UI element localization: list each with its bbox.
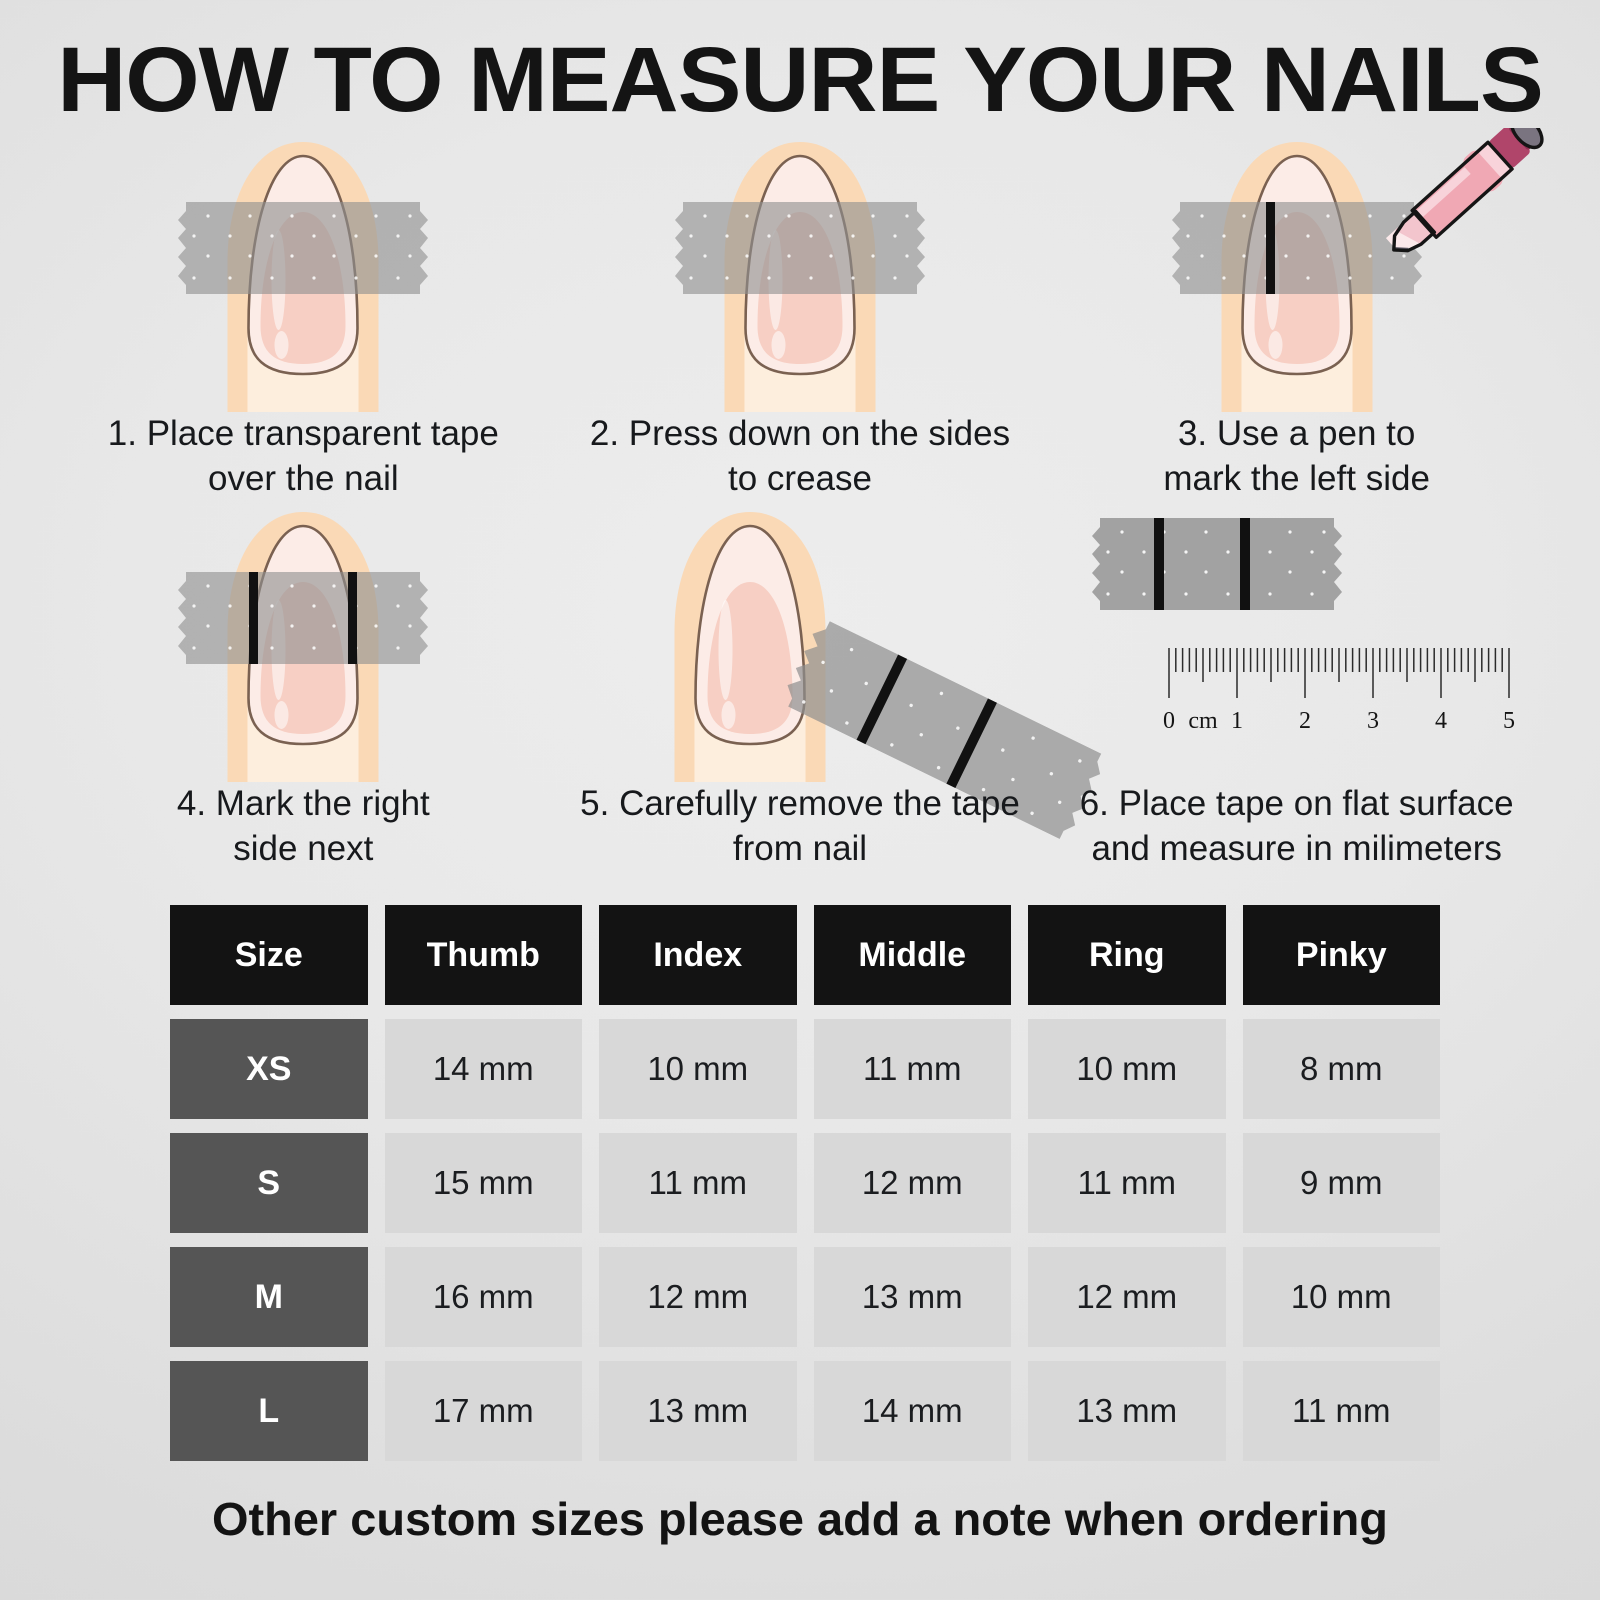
table-cell-value: 14 mm bbox=[385, 1019, 583, 1119]
step-4-caption: 4. Mark the rightside next bbox=[55, 782, 552, 872]
ruler-unit-label: cm bbox=[1188, 708, 1218, 734]
finger-illustration bbox=[663, 500, 838, 782]
table-cell-value: 11 mm bbox=[1243, 1361, 1441, 1461]
table-cell-value: 14 mm bbox=[814, 1361, 1012, 1461]
finger-illustration bbox=[216, 500, 391, 782]
step-5-illustration bbox=[552, 500, 1049, 782]
step-2-caption: 2. Press down on the sidesto crease bbox=[552, 412, 1049, 502]
footer-note: Other custom sizes please add a note whe… bbox=[0, 1492, 1600, 1546]
finger-icon bbox=[216, 500, 391, 782]
table-cell-value: 17 mm bbox=[385, 1361, 583, 1461]
finger-icon bbox=[712, 130, 887, 412]
step-4-illustration bbox=[55, 500, 552, 782]
table-header-ring: Ring bbox=[1028, 905, 1226, 1005]
table-row-size-label: L bbox=[170, 1361, 368, 1461]
left-mark bbox=[856, 655, 907, 745]
table-cell-value: 10 mm bbox=[599, 1019, 797, 1119]
table-header-index: Index bbox=[599, 905, 797, 1005]
finger-icon bbox=[1209, 130, 1384, 412]
step-5-caption: 5. Carefully remove the tapefrom nail bbox=[552, 782, 1049, 872]
finger-icon bbox=[216, 130, 391, 412]
table-header-size: Size bbox=[170, 905, 368, 1005]
finger-illustration bbox=[1209, 130, 1384, 412]
steps-grid: 1. Place transparent tapeover the nail bbox=[55, 130, 1545, 875]
finger-icon bbox=[663, 500, 838, 782]
table-cell-value: 9 mm bbox=[1243, 1133, 1441, 1233]
ruler-tick-5: 5 bbox=[1503, 708, 1515, 734]
ruler-tick-1: 1 bbox=[1231, 708, 1243, 734]
size-chart-table: Size Thumb Index Middle Ring Pinky XS 14… bbox=[170, 905, 1440, 1461]
step-1: 1. Place transparent tapeover the nail bbox=[55, 130, 552, 500]
ruler-tick-2: 2 bbox=[1299, 708, 1311, 734]
table-cell-value: 16 mm bbox=[385, 1247, 583, 1347]
step-3-caption: 3. Use a pen tomark the left side bbox=[1048, 412, 1545, 502]
step-5: 5. Carefully remove the tapefrom nail bbox=[552, 500, 1049, 875]
table-cell-value: 8 mm bbox=[1243, 1019, 1441, 1119]
ruler-icon: 0 cm 1 2 3 4 5 bbox=[1157, 612, 1547, 752]
table-cell-value: 11 mm bbox=[599, 1133, 797, 1233]
ruler-tick-3: 3 bbox=[1367, 708, 1379, 734]
ruler-tick-0: 0 bbox=[1163, 708, 1175, 734]
step-3: 3. Use a pen tomark the left side bbox=[1048, 130, 1545, 500]
step-3-illustration bbox=[1048, 130, 1545, 412]
table-header-middle: Middle bbox=[814, 905, 1012, 1005]
step-6-caption: 6. Place tape on flat surfaceand measure… bbox=[1048, 782, 1545, 872]
page-title: HOW TO MEASURE YOUR NAILS bbox=[0, 28, 1600, 133]
step-6-illustration: 0 cm 1 2 3 4 5 bbox=[1048, 500, 1545, 782]
step-2-illustration bbox=[552, 130, 1049, 412]
finger-illustration bbox=[216, 130, 391, 412]
step-6: 0 cm 1 2 3 4 5 6. Place tape on flat sur… bbox=[1048, 500, 1545, 875]
table-cell-value: 13 mm bbox=[1028, 1361, 1226, 1461]
finger-illustration bbox=[712, 130, 887, 412]
step-2: 2. Press down on the sidesto crease bbox=[552, 130, 1049, 500]
table-row-size-label: S bbox=[170, 1133, 368, 1233]
right-mark bbox=[1240, 518, 1250, 610]
table-cell-value: 12 mm bbox=[814, 1133, 1012, 1233]
tape-measured-overlay bbox=[1092, 518, 1342, 610]
table-header-thumb: Thumb bbox=[385, 905, 583, 1005]
ruler-tick-4: 4 bbox=[1435, 708, 1447, 734]
table-header-pinky: Pinky bbox=[1243, 905, 1441, 1005]
table-row-size-label: XS bbox=[170, 1019, 368, 1119]
table-row-size-label: M bbox=[170, 1247, 368, 1347]
step-1-illustration bbox=[55, 130, 552, 412]
step-1-caption: 1. Place transparent tapeover the nail bbox=[55, 412, 552, 502]
left-mark bbox=[1154, 518, 1164, 610]
right-mark bbox=[946, 698, 997, 788]
step-4: 4. Mark the rightside next bbox=[55, 500, 552, 875]
table-cell-value: 13 mm bbox=[599, 1361, 797, 1461]
table-cell-value: 12 mm bbox=[599, 1247, 797, 1347]
table-cell-value: 11 mm bbox=[814, 1019, 1012, 1119]
table-cell-value: 10 mm bbox=[1243, 1247, 1441, 1347]
table-cell-value: 11 mm bbox=[1028, 1133, 1226, 1233]
table-cell-value: 15 mm bbox=[385, 1133, 583, 1233]
table-cell-value: 13 mm bbox=[814, 1247, 1012, 1347]
table-cell-value: 12 mm bbox=[1028, 1247, 1226, 1347]
table-cell-value: 10 mm bbox=[1028, 1019, 1226, 1119]
